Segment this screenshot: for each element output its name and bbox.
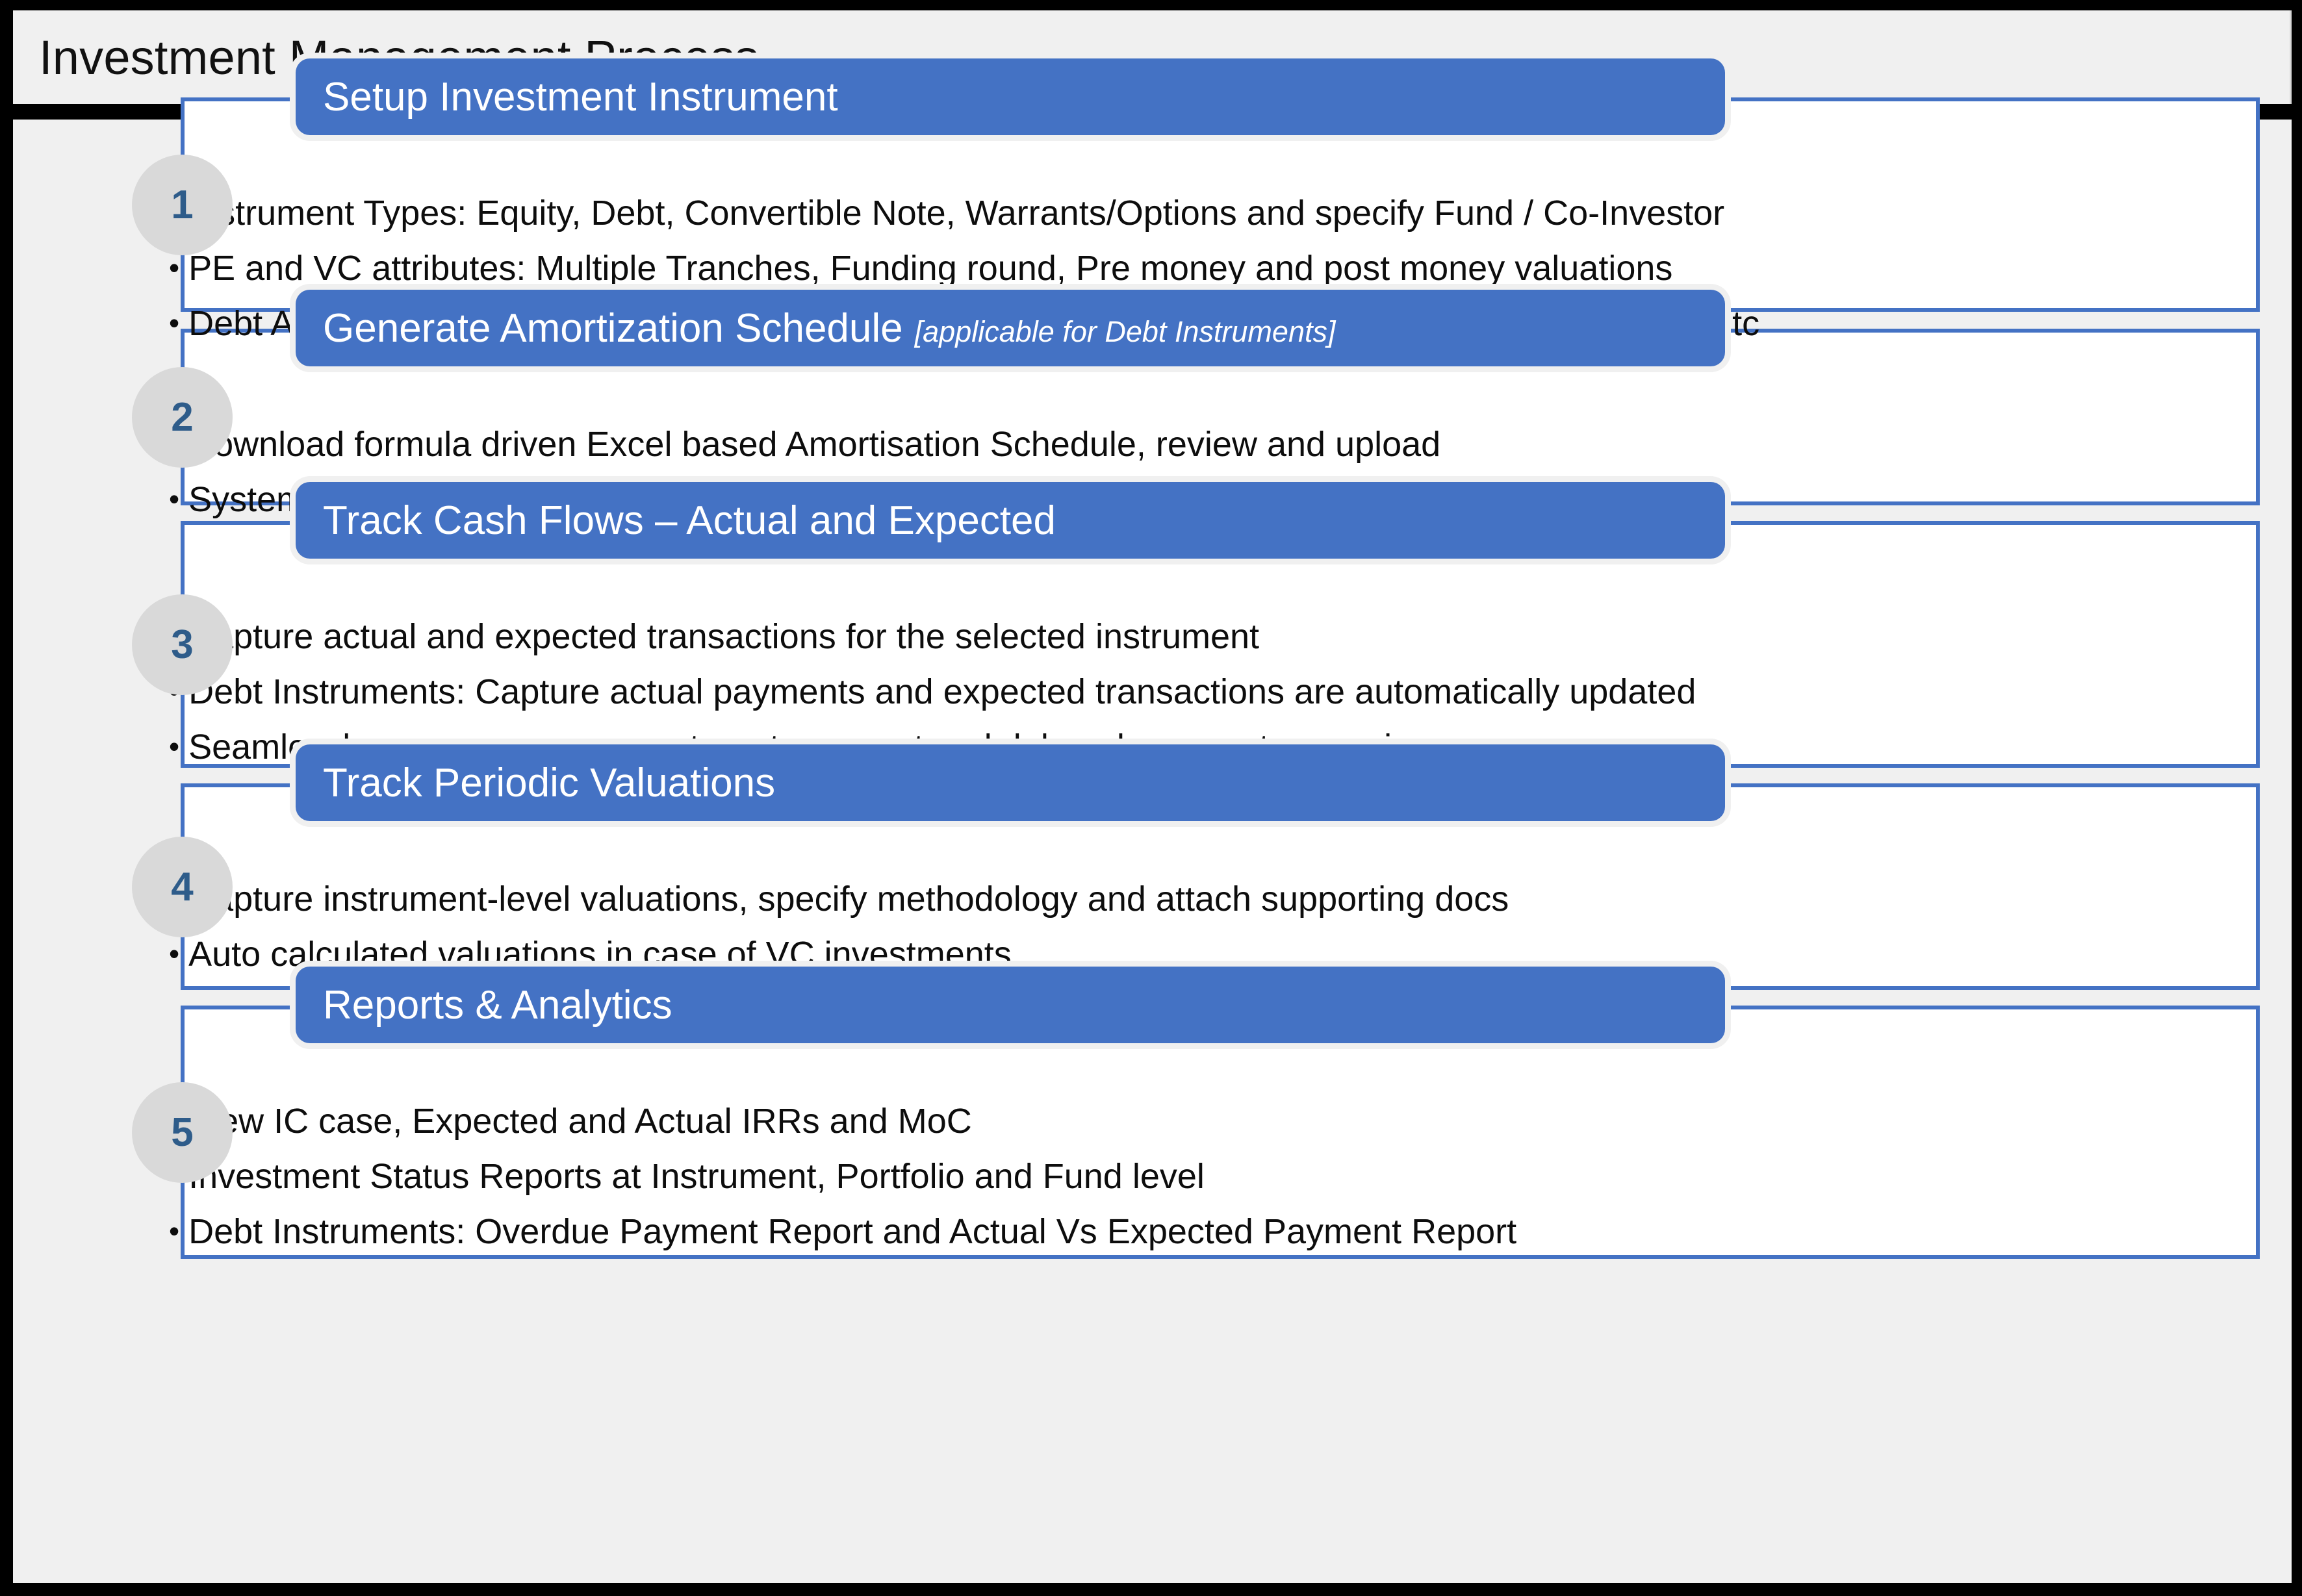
bullet-item: •Debt Instruments: Overdue Payment Repor… [169,1213,2279,1250]
step-header-bar[interactable]: Reports & Analytics [296,967,1725,1043]
bullet-item: •Download formula driven Excel based Amo… [169,426,2279,463]
step-header-bar[interactable]: Track Periodic Valuations [296,744,1725,821]
bullet-text: Investment Status Reports at Instrument,… [188,1158,1205,1195]
step-header-content: Generate Amortization Schedule[applicabl… [296,305,1335,351]
step-header-content: Reports & Analytics [296,982,672,1028]
step-title: Setup Investment Instrument [323,74,838,120]
slide-frame: Investment Management Process Setup Inve… [0,0,2302,1596]
bullet-dot-icon: • [169,305,179,340]
step-number-badge: 5 [132,1082,233,1183]
step-header-bar[interactable]: Generate Amortization Schedule[applicabl… [296,290,1725,366]
process-step[interactable]: Track Periodic Valuations4•Capture instr… [13,783,2292,990]
bullet-dot-icon: • [169,1213,179,1248]
step-title: Track Cash Flows – Actual and Expected [323,498,1056,544]
step-header-content: Track Periodic Valuations [296,760,775,806]
bullet-dot-icon: • [169,481,179,516]
step-header-bar[interactable]: Track Cash Flows – Actual and Expected [296,482,1725,559]
bullet-item: •PE and VC attributes: Multiple Tranches… [169,250,2279,287]
step-number: 4 [171,864,193,910]
bullet-text: Debt Instruments: Capture actual payment… [188,674,1696,711]
diagram-canvas: Setup Investment Instrument1•Instrument … [13,120,2292,1583]
bullet-text: Debt Instruments: Overdue Payment Report… [188,1213,1516,1250]
step-title: Generate Amortization Schedule [323,305,903,351]
bullet-text: View IC case, Expected and Actual IRRs a… [188,1103,972,1140]
bullet-item: •Capture actual and expected transaction… [169,618,2279,655]
bullet-text: Capture instrument-level valuations, spe… [188,881,1509,918]
step-title-note: [applicable for Debt Instruments] [915,315,1336,349]
bullet-item: •Instrument Types: Equity, Debt, Convert… [169,195,2279,232]
step-header-bar[interactable]: Setup Investment Instrument [296,58,1725,135]
bullet-dot-icon: • [169,936,179,971]
bullet-item: •Capture instrument-level valuations, sp… [169,881,2279,918]
bullet-dot-icon: • [169,250,179,285]
step-number: 1 [171,182,193,228]
step-number-badge: 1 [132,155,233,255]
step-number: 5 [171,1109,193,1156]
step-number-badge: 4 [132,837,233,937]
step-header-content: Track Cash Flows – Actual and Expected [296,498,1056,544]
step-number: 3 [171,622,193,668]
bullet-item: •Investment Status Reports at Instrument… [169,1158,2279,1195]
bullet-item: •Debt Instruments: Capture actual paymen… [169,674,2279,711]
process-step[interactable]: Setup Investment Instrument1•Instrument … [13,97,2292,312]
step-number-badge: 3 [132,594,233,695]
step-title: Reports & Analytics [323,982,672,1028]
step-title: Track Periodic Valuations [323,760,775,806]
step-number-badge: 2 [132,367,233,468]
bullet-text: Capture actual and expected transactions… [188,618,1259,655]
step-number: 2 [171,394,193,440]
step-header-content: Setup Investment Instrument [296,74,838,120]
bullet-text: Download formula driven Excel based Amor… [188,426,1440,463]
process-step[interactable]: Reports & Analytics5•View IC case, Expec… [13,1006,2292,1259]
bullet-dot-icon: • [169,729,179,764]
process-step[interactable]: Track Cash Flows – Actual and Expected3•… [13,521,2292,768]
bullet-text: Instrument Types: Equity, Debt, Converti… [188,195,1724,232]
bullet-text: PE and VC attributes: Multiple Tranches,… [188,250,1672,287]
step-bullet-list: •View IC case, Expected and Actual IRRs … [169,1103,2279,1269]
bullet-item: •View IC case, Expected and Actual IRRs … [169,1103,2279,1140]
